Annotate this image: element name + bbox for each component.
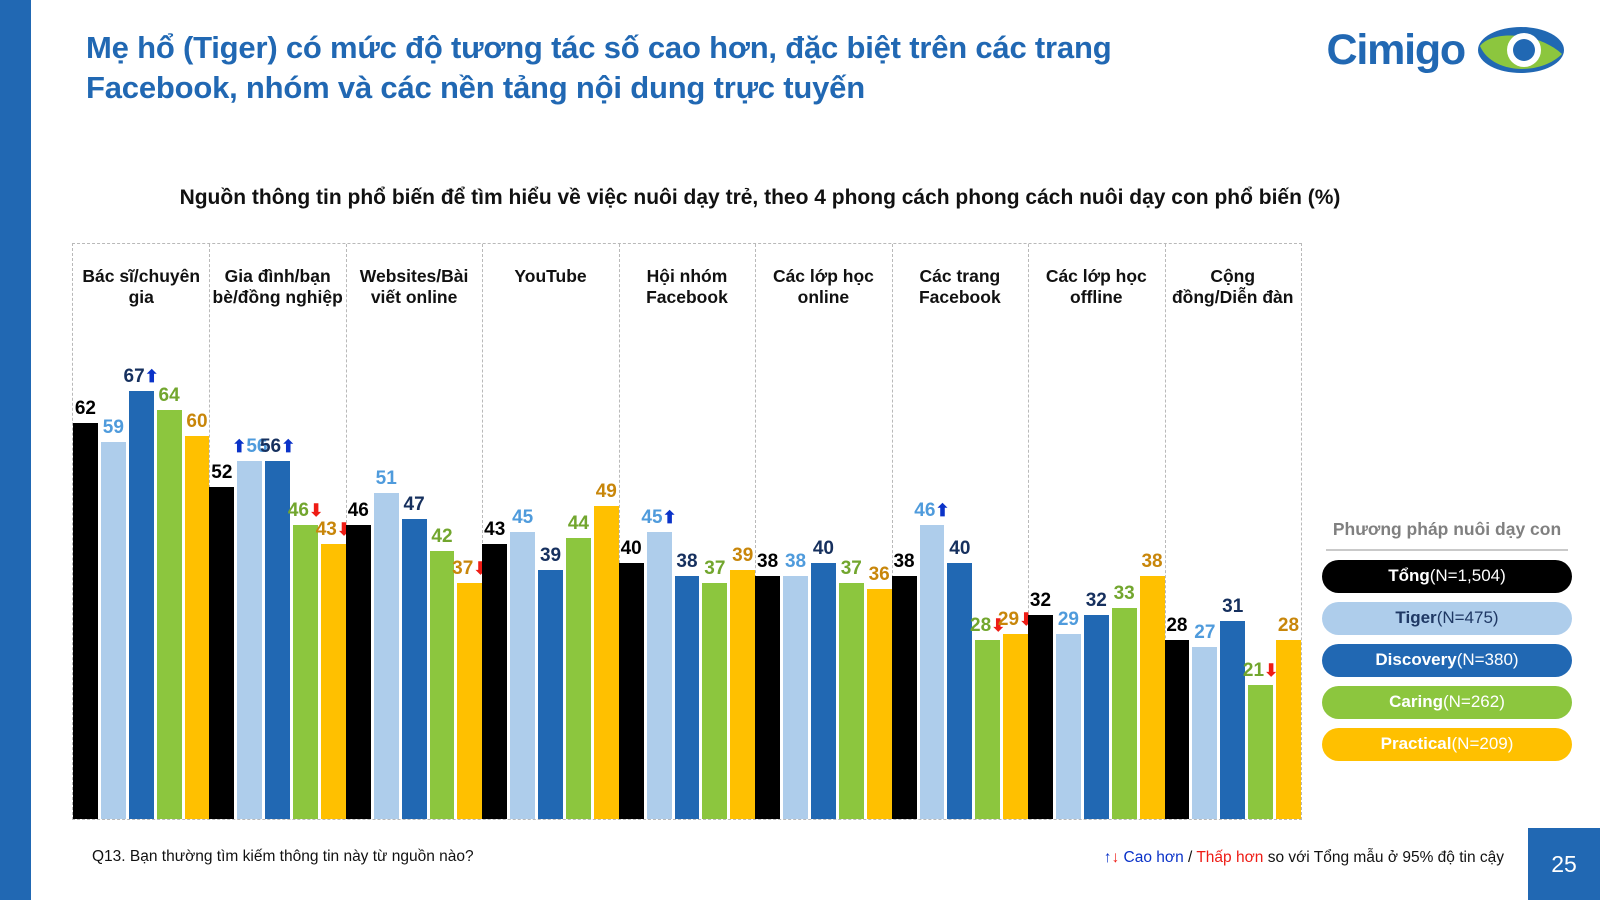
bar-slot: 40 [811,359,836,819]
bar-discovery[interactable] [402,519,427,819]
group-label: Websites/Bài viết online [348,266,480,309]
bar-tổng[interactable] [482,544,507,819]
bar-slot: 39 [538,359,563,819]
legend-item-count: (N=1,504) [1430,566,1506,586]
bar-value-label: 38 [893,552,914,571]
bar-value: 27 [1194,622,1215,643]
bar-value-label: 52 [211,463,232,482]
bar-value: 29 [998,609,1019,630]
group-bars: 4045⬆383739 [619,359,755,819]
bar-value: 52 [211,462,232,483]
bar-value-label: 44 [568,514,589,533]
bar-tiger[interactable] [647,532,672,820]
significance-up-arrow-icon: ⬆ [232,437,246,456]
bar-slot: 38 [675,359,700,819]
bar-tiger[interactable] [1056,634,1081,819]
legend-item-count: (N=475) [1437,608,1499,628]
bar-slot: 43⬇ [321,359,346,819]
legend-item-practical[interactable]: Practical (N=209) [1322,728,1572,761]
note-tail: so với Tổng mẫu ở 95% độ tin cậy [1263,849,1504,866]
note-separator: / [1184,849,1197,866]
bar-value-label: 29 [1058,610,1079,629]
bar-value-label: 60 [186,412,207,431]
bar-discovery[interactable] [947,563,972,819]
bar-value-label: 39 [732,546,753,565]
bar-slot: 42 [430,359,455,819]
bar-value-label: 37 [704,559,725,578]
page-number-badge: 25 [1528,828,1600,900]
bar-value: 36 [869,564,890,585]
group-label: Hội nhóm Facebook [621,266,753,309]
bar-value: 38 [676,551,697,572]
bar-practical[interactable] [1140,576,1165,819]
bar-caring[interactable] [566,538,591,819]
note-lower-label: Thấp hơn [1196,849,1263,866]
chart-group-7: Các trang Facebook3846⬆4028⬇29⬇ [892,244,1028,819]
bar-slot: 49 [594,359,619,819]
bar-value: 67 [124,366,145,387]
footer-question: Q13. Bạn thường tìm kiếm thông tin này t… [92,848,474,866]
bar-value: 45 [641,507,662,528]
bar-value: 38 [757,551,778,572]
bar-slot: 37 [839,359,864,819]
bar-tiger[interactable] [920,525,945,819]
bar-caring[interactable] [702,583,727,819]
bar-slot: 31 [1220,359,1245,819]
bar-value: 46 [288,500,309,521]
legend-item-name: Discovery [1375,650,1456,670]
bar-tiger[interactable] [510,532,535,820]
bar-slot: 29 [1056,359,1081,819]
bar-value: 38 [785,551,806,572]
bar-discovery[interactable] [265,461,290,819]
bar-slot: 38 [1140,359,1165,819]
bar-slot: 39 [730,359,755,819]
bar-slot: 52 [209,359,234,819]
chart-group-4: YouTube4345394449 [482,244,618,819]
bar-slot: 51 [374,359,399,819]
bar-value-label: 36 [869,565,890,584]
bar-value: 28 [1166,615,1187,636]
bar-value: 60 [186,411,207,432]
bar-tổng[interactable] [1028,615,1053,819]
bar-discovery[interactable] [811,563,836,819]
page-title: Mẹ hổ (Tiger) có mức độ tương tác số cao… [86,28,1246,109]
bar-value: 37 [704,558,725,579]
legend-item-count: (N=380) [1457,650,1519,670]
bar-value-label: 38 [676,552,697,571]
bar-slot: 60 [185,359,210,819]
bar-value-label: 46⬇ [288,501,323,520]
bar-value: 51 [376,468,397,489]
bar-discovery[interactable] [1084,615,1109,819]
bar-value: 40 [621,538,642,559]
bar-tiger[interactable] [237,461,262,819]
slide: Mẹ hổ (Tiger) có mức độ tương tác số cao… [0,0,1600,900]
group-bars: 52⬆5656⬆46⬇43⬇ [209,359,345,819]
bar-caring[interactable] [1112,608,1137,819]
bar-tổng[interactable] [755,576,780,819]
bar-value: 42 [431,526,452,547]
bar-value-label: 39 [540,546,561,565]
legend-item-discovery[interactable]: Discovery (N=380) [1322,644,1572,677]
legend-item-count: (N=262) [1443,692,1505,712]
bar-slot: 47 [402,359,427,819]
bar-value-label: 62 [75,399,96,418]
bar-value: 40 [949,538,970,559]
cimigo-logo: Cimigo [1326,22,1564,78]
bar-value: 39 [540,545,561,566]
bar-slot: 64 [157,359,182,819]
bar-value-label: 59 [103,418,124,437]
bar-value: 49 [596,481,617,502]
chart-group-5: Hội nhóm Facebook4045⬆383739 [619,244,755,819]
bar-value: 37 [841,558,862,579]
bar-value-label: 49 [596,482,617,501]
chart-group-1: Bác sĩ/chuyên gia625967⬆6460 [73,244,209,819]
bar-value-label: 38 [785,552,806,571]
chart-plot-area: Bác sĩ/chuyên gia625967⬆6460Gia đình/bạn… [72,243,1302,820]
footer-significance-note: ↑↓ Cao hơn / Thấp hơn so với Tổng mẫu ở … [1104,849,1504,867]
group-label: YouTube [484,266,616,287]
group-bars: 3846⬆4028⬇29⬇ [892,359,1028,819]
bar-slot: 46⬇ [293,359,318,819]
bar-tổng[interactable] [209,487,234,819]
bar-tổng[interactable] [73,423,98,819]
group-label: Các lớp học offline [1030,266,1162,309]
bar-value: 31 [1222,596,1243,617]
bar-discovery[interactable] [129,391,154,819]
legend-item-name: Tổng [1388,566,1430,586]
legend-divider [1326,549,1568,551]
bar-slot: 36 [867,359,892,819]
bar-value: 37 [452,558,473,579]
bar-slot: 32 [1028,359,1053,819]
bar-value: 29 [1058,609,1079,630]
legend-item-tiger[interactable]: Tiger (N=475) [1322,602,1572,635]
bar-value-label: 46⬆ [914,501,949,520]
bar-slot: 33 [1112,359,1137,819]
bar-slot: 32 [1084,359,1109,819]
bar-value-label: 64 [159,386,180,405]
bar-value-label: 45 [512,508,533,527]
bar-slot: 38 [892,359,917,819]
left-accent-bar [0,0,31,900]
bar-practical[interactable] [1003,634,1028,819]
bar-tổng[interactable] [346,525,371,819]
bar-value: 46 [914,500,935,521]
bar-slot: 62 [73,359,98,819]
bar-tiger[interactable] [101,442,126,819]
bar-tổng[interactable] [892,576,917,819]
group-label: Bác sĩ/chuyên gia [75,266,207,309]
bar-value-label: 37 [841,559,862,578]
bar-slot: 38 [755,359,780,819]
chart-group-3: Websites/Bài viết online4651474237⬇ [346,244,482,819]
chart-group-8: Các lớp học offline3229323338 [1028,244,1164,819]
bar-value-label: 40 [949,539,970,558]
bar-value-label: 33 [1114,584,1135,603]
legend-items: Tổng (N=1,504)Tiger (N=475)Discovery (N=… [1322,560,1572,761]
bar-value: 28 [1278,615,1299,636]
group-label: Gia đình/bạn bè/đồng nghiệp [211,266,343,309]
bar-value-label: 67⬆ [124,367,159,386]
bar-practical[interactable] [730,570,755,819]
bar-slot: 56⬆ [265,359,290,819]
bar-slot: 45 [510,359,535,819]
bar-value: 32 [1030,590,1051,611]
chart-group-6: Các lớp học online3838403736 [755,244,891,819]
bar-value-label: 38 [1141,552,1162,571]
note-higher-label: Cao hơn [1124,849,1184,866]
bar-value-label: 38 [757,552,778,571]
bar-slot: 59 [101,359,126,819]
logo-eye-icon [1478,24,1564,76]
bar-value-label: 42 [431,527,452,546]
bar-value: 44 [568,513,589,534]
bar-slot: 28⬇ [975,359,1000,819]
chart-group-2: Gia đình/bạn bè/đồng nghiệp52⬆5656⬆46⬇43… [209,244,345,819]
bar-slot: 28 [1165,359,1190,819]
bar-value-label: 32 [1030,591,1051,610]
bar-value-label: 28 [1278,616,1299,635]
bar-slot: 46 [346,359,371,819]
bar-value: 64 [159,385,180,406]
bar-value-label: 40 [621,539,642,558]
bar-value-label: 40 [813,539,834,558]
bar-tiger[interactable] [783,576,808,819]
bar-value: 59 [103,417,124,438]
bar-value: 46 [348,500,369,521]
bar-slot: 37 [702,359,727,819]
bar-practical[interactable] [457,583,482,819]
bar-value: 56 [260,436,281,457]
bar-slot: 40 [619,359,644,819]
bar-slot: 45⬆ [647,359,672,819]
bar-value-label: 51 [376,469,397,488]
bar-tổng[interactable] [619,563,644,819]
bar-discovery[interactable] [675,576,700,819]
bar-value-label: 56⬆ [260,437,295,456]
bar-caring[interactable] [975,640,1000,819]
bar-slot: 37⬇ [457,359,482,819]
bar-tổng[interactable] [1165,640,1190,819]
bar-value: 40 [813,538,834,559]
chart-group-9: Cộng đồng/Diễn đàn28273121⬇28 [1165,244,1301,819]
bar-value: 45 [512,507,533,528]
bar-value-label: 32 [1086,591,1107,610]
bar-value: 38 [1141,551,1162,572]
bar-practical[interactable] [321,544,346,819]
bar-value-label: 46 [348,501,369,520]
group-bars: 3838403736 [755,359,891,819]
bar-practical[interactable] [185,436,210,819]
group-bars: 4345394449 [482,359,618,819]
legend-item-name: Tiger [1395,608,1436,628]
legend-title: Phương pháp nuôi dạy con [1322,519,1572,541]
bar-value: 38 [893,551,914,572]
bar-value: 39 [732,545,753,566]
bar-value: 62 [75,398,96,419]
chart-subtitle: Nguồn thông tin phổ biến để tìm hiểu về … [0,186,1520,210]
bar-slot: 28 [1276,359,1301,819]
bar-slot: 44 [566,359,591,819]
group-label: Các trang Facebook [894,266,1026,309]
bar-slot: 27 [1192,359,1217,819]
bar-value: 21 [1243,660,1264,681]
bar-value: 33 [1114,583,1135,604]
bar-value: 43 [484,519,505,540]
bar-value-label: 31 [1222,597,1243,616]
chart-legend: Phương pháp nuôi dạy con Tổng (N=1,504)T… [1322,519,1572,770]
bar-value-label: 28 [1166,616,1187,635]
legend-item-name: Caring [1389,692,1443,712]
bar-value-label: 43 [484,520,505,539]
bar-slot: 38 [783,359,808,819]
bar-value: 32 [1086,590,1107,611]
group-bars: 4651474237⬇ [346,359,482,819]
bar-discovery[interactable] [538,570,563,819]
group-bars: 28273121⬇28 [1165,359,1301,819]
bar-caring[interactable] [1248,685,1273,819]
bar-slot: ⬆56 [237,359,262,819]
bar-practical[interactable] [867,589,892,819]
group-bars: 625967⬆6460 [73,359,209,819]
bar-caring[interactable] [430,551,455,819]
bar-practical[interactable] [594,506,619,819]
chart-groups: Bác sĩ/chuyên gia625967⬆6460Gia đình/bạn… [73,244,1301,819]
bar-value: 47 [404,494,425,515]
bar-value-label: 47 [404,495,425,514]
bar-discovery[interactable] [1220,621,1245,819]
legend-item-count: (N=209) [1452,734,1514,754]
bar-value-label: 21⬇ [1243,661,1278,680]
legend-item-t-ng[interactable]: Tổng (N=1,504) [1322,560,1572,593]
bar-slot: 21⬇ [1248,359,1273,819]
bar-value-label: 45⬆ [641,508,676,527]
bar-caring[interactable] [157,410,182,819]
legend-item-caring[interactable]: Caring (N=262) [1322,686,1572,719]
bar-value-label: 27 [1194,623,1215,642]
bar-slot: 43 [482,359,507,819]
bar-caring[interactable] [293,525,318,819]
bar-slot: 46⬆ [920,359,945,819]
bar-value: 28 [970,615,991,636]
note-down-arrow-icon: ↓ [1111,849,1119,866]
bar-tiger[interactable] [1192,647,1217,820]
group-bars: 3229323338 [1028,359,1164,819]
legend-item-name: Practical [1381,734,1452,754]
bar-value: 43 [316,519,337,540]
bar-practical[interactable] [1276,640,1301,819]
bar-slot: 40 [947,359,972,819]
bar-slot: 29⬇ [1003,359,1028,819]
group-label: Các lớp học online [757,266,889,309]
bar-tiger[interactable] [374,493,399,819]
group-label: Cộng đồng/Diễn đàn [1167,266,1299,309]
logo-wordmark: Cimigo [1326,29,1465,72]
bar-slot: 67⬆ [129,359,154,819]
bar-caring[interactable] [839,583,864,819]
